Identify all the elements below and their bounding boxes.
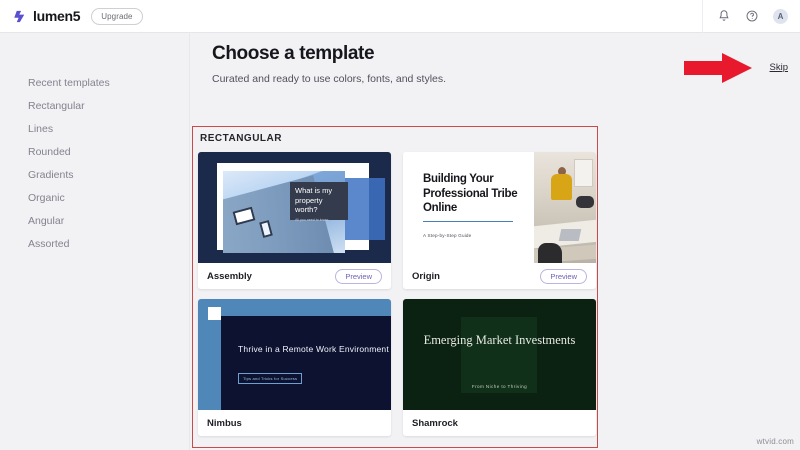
- template-thumbnail: Emerging Market Investments From Niche t…: [403, 299, 596, 410]
- template-card-shamrock[interactable]: Emerging Market Investments From Niche t…: [403, 299, 596, 436]
- watermark: wtvid.com: [757, 437, 794, 446]
- sidebar-item-rectangular[interactable]: Rectangular: [0, 95, 189, 118]
- page-title: Choose a template: [212, 43, 374, 65]
- sidebar-item-assorted[interactable]: Assorted: [0, 233, 189, 256]
- sidebar-item-recent-templates[interactable]: Recent templates: [0, 72, 189, 95]
- thumb-text-box: What is my property worth? All you need …: [290, 182, 348, 220]
- template-card-footer: Assembly Preview: [198, 263, 391, 289]
- app-window: lumen5 Upgrade A Recent templates Rec: [0, 0, 800, 450]
- thumb-foreground-person: [538, 243, 562, 263]
- bell-icon[interactable]: [717, 9, 731, 23]
- template-grid: What is my property worth? All you need …: [198, 152, 596, 436]
- top-bar: lumen5 Upgrade A: [0, 0, 800, 33]
- annotation-arrow-icon: [682, 51, 754, 90]
- template-name: Nimbus: [207, 418, 242, 429]
- thumb-subline: A Step-by-Step Guide: [423, 233, 534, 238]
- preview-button[interactable]: Preview: [540, 269, 587, 284]
- thumb-headline: Emerging Market Investments: [403, 332, 596, 349]
- template-card-assembly[interactable]: What is my property worth? All you need …: [198, 152, 391, 289]
- thumb-headline: Thrive in a Remote Work Environment: [238, 343, 389, 355]
- sidebar-item-angular[interactable]: Angular: [0, 210, 189, 233]
- template-name: Assembly: [207, 271, 252, 282]
- thumb-photo: [534, 152, 596, 263]
- thumb-subline: Tips and Tricks for Success: [238, 373, 302, 384]
- thumb-square-accent: [208, 307, 221, 320]
- upgrade-button[interactable]: Upgrade: [91, 8, 142, 25]
- template-card-footer: Origin Preview: [403, 263, 596, 289]
- thumb-laptop: [559, 229, 582, 241]
- template-name: Origin: [412, 271, 440, 282]
- brand-name: lumen5: [33, 8, 80, 24]
- thumb-panel: [221, 316, 391, 410]
- thumb-accent-block: [345, 178, 385, 240]
- template-card-nimbus[interactable]: Thrive in a Remote Work Environment Tips…: [198, 299, 391, 436]
- template-card-footer: Nimbus: [198, 410, 391, 436]
- thumb-headline: What is my property worth?: [295, 186, 343, 215]
- thumb-text-area: Building Your Professional Tribe Online …: [403, 152, 534, 263]
- sidebar: Recent templates Rectangular Lines Round…: [0, 33, 190, 450]
- help-icon[interactable]: [745, 9, 759, 23]
- template-thumbnail: Building Your Professional Tribe Online …: [403, 152, 596, 263]
- skip-link[interactable]: Skip: [770, 62, 788, 73]
- thumb-window-a: [233, 207, 256, 226]
- brand-logo[interactable]: lumen5: [13, 8, 80, 24]
- template-thumbnail: Thrive in a Remote Work Environment Tips…: [198, 299, 391, 410]
- thumb-glow-accent: [461, 317, 537, 393]
- section-label-rectangular: RECTANGULAR: [200, 133, 282, 144]
- sidebar-item-organic[interactable]: Organic: [0, 187, 189, 210]
- thumb-underline: [423, 221, 513, 223]
- template-thumbnail: What is my property worth? All you need …: [198, 152, 391, 263]
- page-subtitle: Curated and ready to use colors, fonts, …: [212, 73, 446, 85]
- thumb-whiteboard: [574, 159, 593, 187]
- sidebar-item-lines[interactable]: Lines: [0, 118, 189, 141]
- template-card-footer: Shamrock: [403, 410, 596, 436]
- thumb-person-body: [551, 174, 572, 200]
- top-bar-actions: A: [702, 0, 800, 33]
- sidebar-item-rounded[interactable]: Rounded: [0, 141, 189, 164]
- main-content: Choose a template Curated and ready to u…: [190, 33, 800, 450]
- template-name: Shamrock: [412, 418, 458, 429]
- thumb-chair: [576, 196, 594, 208]
- thumb-headline: Building Your Professional Tribe Online: [423, 172, 534, 216]
- avatar[interactable]: A: [773, 9, 788, 24]
- sidebar-item-gradients[interactable]: Gradients: [0, 164, 189, 187]
- lumen5-logo-icon: [13, 9, 28, 24]
- template-card-origin[interactable]: Building Your Professional Tribe Online …: [403, 152, 596, 289]
- thumb-window-b: [259, 220, 273, 238]
- preview-button[interactable]: Preview: [335, 269, 382, 284]
- thumb-subline: From Niche to Thriving: [403, 384, 596, 389]
- thumb-subline: All you need to know: [295, 218, 343, 222]
